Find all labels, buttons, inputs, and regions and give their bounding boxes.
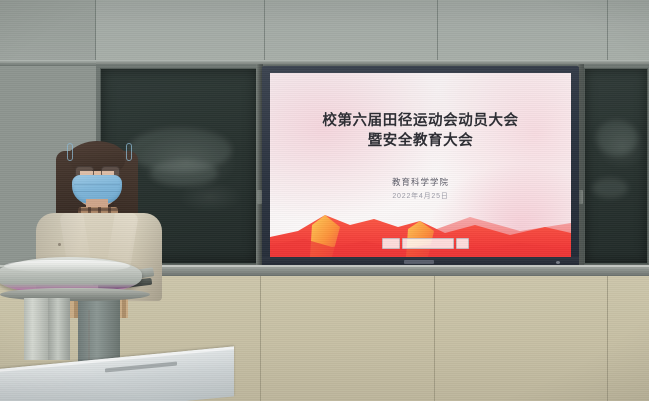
chalk-smudge [592, 178, 628, 198]
display-brand-logo [404, 260, 434, 264]
slide-title: 校第六届田径运动会动员大会 暨安全教育大会 [270, 111, 571, 151]
wall-panel-seam [264, 0, 265, 64]
chalk-smudge [596, 120, 638, 156]
slide-organization: 教育科学学院 [270, 176, 571, 188]
podium-shelf [0, 288, 150, 301]
upper-wall [0, 0, 649, 64]
lower-wall-seam [434, 276, 435, 401]
coat-button [58, 243, 61, 246]
slide-mountain-graphic [270, 205, 571, 257]
toolbar-chip-main[interactable] [402, 238, 454, 249]
toolbar-chip-right[interactable] [456, 238, 469, 249]
classroom-scene: 校第六届田径运动会动员大会 暨安全教育大会 教育科学学院 2022年4月25日 [0, 0, 649, 401]
toolbar-chip-left[interactable] [382, 238, 400, 249]
upper-wall-left-panel [0, 0, 96, 64]
podium-column-left [24, 298, 48, 360]
wall-panel-seam [607, 0, 608, 64]
podium-top-highlight [4, 260, 130, 272]
glasses-bridge [92, 170, 101, 171]
slide-floating-toolbar[interactable] [382, 238, 469, 248]
slide-title-line-1: 校第六届田径运动会动员大会 [322, 113, 518, 129]
mask-pleat [74, 191, 120, 192]
podium-column-rear [78, 296, 120, 364]
wall-panel-seam [437, 0, 438, 64]
display-power-led-icon [556, 261, 560, 264]
podium-support-rod [88, 310, 90, 362]
podium-column-right [48, 298, 70, 360]
lower-wall-seam [607, 276, 608, 401]
presentation-screen[interactable]: 校第六届田径运动会动员大会 暨安全教育大会 教育科学学院 2022年4月25日 [270, 73, 571, 257]
lower-wall-seam [260, 276, 261, 401]
wall-panel-seam [95, 0, 96, 64]
slide-date: 2022年4月25日 [270, 191, 571, 201]
slide-title-line-2: 暨安全教育大会 [270, 131, 571, 151]
mask-ear-loop [126, 143, 132, 161]
blackboard-right-panel [584, 68, 648, 264]
mask-pleat [74, 184, 120, 185]
mask-ear-loop [67, 143, 73, 161]
